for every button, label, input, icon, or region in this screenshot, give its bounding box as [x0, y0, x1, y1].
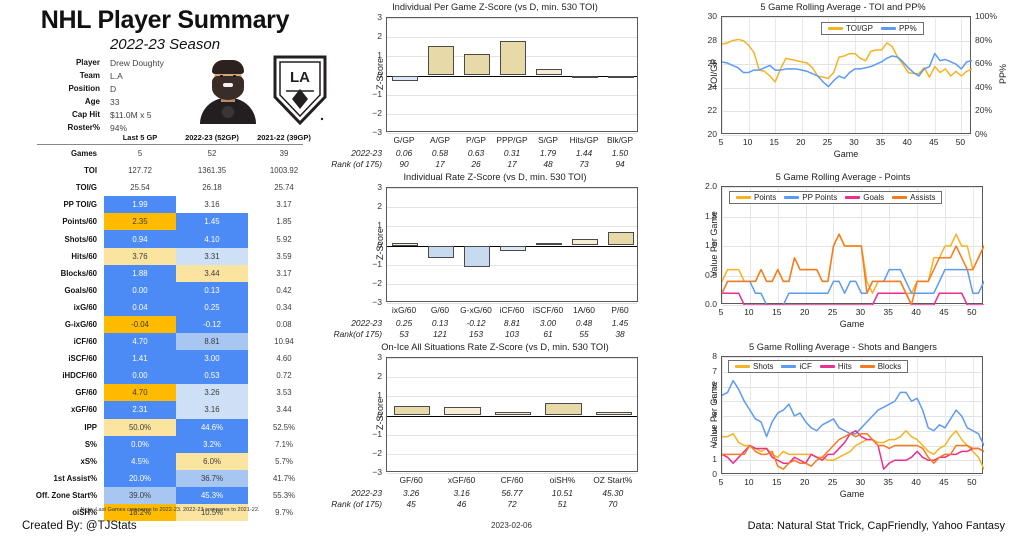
table-cell: 3.31 — [176, 248, 248, 265]
bar — [464, 54, 490, 75]
table-cell: 3.17 — [248, 265, 320, 282]
legend-item[interactable]: iCF — [781, 362, 811, 371]
row-label: S% — [20, 436, 104, 453]
season-value: 1.45 — [612, 318, 628, 328]
table-cell: 50.0% — [104, 419, 176, 436]
chart-rolling-toi-pp: 5 Game Rolling Average - TOI and PP%2022… — [663, 2, 1023, 177]
table-note: Note: Last Games compares to 2022-23. 20… — [20, 507, 320, 513]
gridline — [387, 226, 637, 227]
series-line-pp- — [722, 54, 972, 87]
bar — [572, 76, 598, 78]
y-axis-tick: 0.0 — [705, 299, 717, 309]
rank-value: 121 — [433, 329, 447, 339]
table-cell: 5.7% — [248, 453, 320, 470]
rank-value: 61 — [543, 329, 552, 339]
x-axis-tick: G/60 — [431, 305, 449, 315]
bar — [536, 243, 562, 245]
legend-item[interactable]: Blocks — [860, 362, 902, 371]
table-cell: 10.94 — [248, 333, 320, 350]
legend-item[interactable]: PP% — [881, 24, 917, 33]
table-cell: 3.44 — [176, 265, 248, 282]
legend-swatch — [892, 196, 907, 198]
rank-value: 73 — [579, 159, 588, 169]
x-axis-tick: 35 — [884, 307, 893, 317]
row-label: Goals/60 — [20, 282, 104, 299]
zero-line — [387, 76, 637, 77]
gridline — [387, 454, 637, 455]
x-axis-tick: 25 — [828, 307, 837, 317]
x-axis-tick: 15 — [770, 137, 779, 147]
table-row: xS%4.5%6.0%5.7% — [20, 453, 320, 470]
y-axis-label: Value Per Game — [709, 377, 719, 451]
bio-row: TeamL.A — [42, 69, 192, 82]
x-axis-tick: G-xG/60 — [460, 305, 492, 315]
y-axis-tick: 3 — [377, 182, 382, 192]
table-row: IPP50.0%44.6%52.5% — [20, 419, 320, 436]
bio-row: PositionD — [42, 82, 192, 95]
rank-value: 45 — [407, 499, 416, 509]
table-cell: 4.10 — [176, 230, 248, 247]
y-axis-tick: 30 — [707, 11, 717, 21]
gridline — [387, 95, 637, 96]
table-cell: 55.3% — [248, 487, 320, 504]
y-axis-tick: 20 — [707, 129, 717, 139]
row-label: ixG/60 — [20, 299, 104, 316]
x-axis-tick: A/GP — [430, 135, 450, 145]
table-row: xGF/602.313.163.44 — [20, 401, 320, 418]
x-axis-tick: 40 — [911, 477, 920, 487]
x-axis-tick: xGF/60 — [448, 475, 475, 485]
legend-swatch — [784, 196, 799, 198]
row-label: Games — [20, 145, 104, 162]
row-label-season: 2022-23 — [330, 488, 382, 498]
table-cell: -0.04 — [104, 316, 176, 333]
table-cell: 3.16 — [176, 196, 248, 213]
season-value: 0.31 — [504, 148, 520, 158]
season-value: 0.48 — [576, 318, 592, 328]
table-cell: 1.41 — [104, 350, 176, 367]
y-axis-tick: 2.0 — [705, 181, 717, 191]
legend-item[interactable]: Hits — [820, 362, 852, 371]
legend: ShotsiCFHitsBlocks — [728, 360, 908, 373]
bar — [428, 246, 454, 258]
x-axis-tick: 35 — [876, 137, 885, 147]
table-cell: 0.25 — [176, 299, 248, 316]
x-axis-tick: P/GP — [466, 135, 486, 145]
table-cell: -0.12 — [176, 316, 248, 333]
table-row: Points/602.351.451.85 — [20, 213, 320, 230]
gridline — [387, 114, 637, 115]
gridline — [387, 377, 637, 378]
legend-swatch — [881, 27, 896, 29]
plot-area — [386, 357, 638, 472]
plot-area — [721, 356, 983, 474]
legend-item[interactable]: TOI/GP — [828, 24, 873, 33]
table-cell: 20.0% — [104, 470, 176, 487]
table-cell: 0.34 — [248, 299, 320, 316]
rank-value: 48 — [543, 159, 552, 169]
table-cell: 3.44 — [248, 401, 320, 418]
table-cell: 45.3% — [176, 487, 248, 504]
row-label: Blocks/60 — [20, 265, 104, 282]
x-axis-tick: 10 — [744, 307, 753, 317]
series-layer — [722, 187, 984, 305]
bar — [608, 76, 634, 78]
x-axis-tick: 10 — [743, 137, 752, 147]
y-axis-label-right: PP% — [998, 54, 1008, 94]
bar — [495, 412, 531, 416]
table-row: iCF/604.708.8110.94 — [20, 333, 320, 350]
table-cell: 4.5% — [104, 453, 176, 470]
season-value: 3.00 — [540, 318, 556, 328]
table-cell: 5.92 — [248, 230, 320, 247]
rank-value: 26 — [471, 159, 480, 169]
bar — [500, 41, 526, 75]
legend: PointsPP PointsGoalsAssists — [729, 191, 942, 204]
svg-text:LA: LA — [290, 69, 310, 86]
x-axis-tick: 15 — [772, 307, 781, 317]
rank-value: 38 — [615, 329, 624, 339]
legend-swatch — [820, 365, 835, 367]
legend-label: Assists — [910, 193, 935, 202]
table-cell: 0.04 — [104, 299, 176, 316]
table-row: Blocks/601.883.443.17 — [20, 265, 320, 282]
row-label-rank: Rank(of 175) — [330, 329, 382, 339]
table-row: Shots/600.944.105.92 — [20, 230, 320, 247]
chart-title: Individual Rate Z-Score (vs D, min. 530 … — [330, 172, 660, 182]
x-axis-tick: 30 — [856, 307, 865, 317]
row-label: Shots/60 — [20, 230, 104, 247]
x-axis-tick: 45 — [939, 307, 948, 317]
y-axis-tick-right: 20% — [975, 105, 992, 115]
table-cell: 3.2% — [176, 436, 248, 453]
bar — [394, 406, 430, 416]
plot-area — [386, 187, 638, 302]
table-cell: 1.45 — [176, 213, 248, 230]
season-value: 45.30 — [602, 488, 623, 498]
row-label: Off. Zone Start% — [20, 487, 104, 504]
legend-item[interactable]: Shots — [735, 362, 773, 371]
legend-label: Points — [754, 193, 776, 202]
left-panel: NHL Player Summary 2022-23 Season Player… — [0, 0, 330, 539]
x-axis-tick: PPP/GP — [496, 135, 527, 145]
x-axis-tick: 50 — [956, 137, 965, 147]
player-summary-dashboard: NHL Player Summary 2022-23 Season Player… — [0, 0, 1023, 539]
x-axis-tick: 20 — [800, 477, 809, 487]
x-axis-tick: 40 — [902, 137, 911, 147]
x-axis-tick: oiSH% — [550, 475, 576, 485]
x-axis-tick: 10 — [744, 477, 753, 487]
bio-row: Age33 — [42, 95, 192, 108]
bar — [536, 69, 562, 76]
x-axis-tick: 1A/60 — [573, 305, 595, 315]
legend-label: iCF — [799, 362, 811, 371]
gridline — [387, 358, 637, 359]
x-axis-tick: Hits/GP — [570, 135, 599, 145]
y-axis-tick-right: 40% — [975, 82, 992, 92]
row-label-season: 2022-23 — [330, 318, 382, 328]
x-axis-tick: CF/60 — [501, 475, 524, 485]
x-axis-tick: 30 — [849, 137, 858, 147]
gridline — [387, 265, 637, 266]
rank-value: 90 — [399, 159, 408, 169]
legend-label: Goals — [863, 193, 884, 202]
table-cell: 3.26 — [176, 384, 248, 401]
legend-swatch — [735, 365, 750, 367]
table-cell: 0.72 — [248, 367, 320, 384]
bar — [608, 232, 634, 245]
season-value: 1.50 — [612, 148, 628, 158]
bar — [392, 243, 418, 246]
season-value: 8.81 — [504, 318, 520, 328]
table-cell: 26.18 — [176, 179, 248, 196]
season-value: 1.79 — [540, 148, 556, 158]
season-value: 0.06 — [396, 148, 412, 158]
legend-item[interactable]: PP Points — [784, 193, 837, 202]
legend-swatch — [828, 27, 843, 29]
bio-key: Age — [42, 97, 100, 106]
legend-label: Hits — [838, 362, 852, 371]
table-cell: 0.13 — [176, 282, 248, 299]
table-row: GF/604.703.263.53 — [20, 384, 320, 401]
gridline — [722, 475, 982, 476]
table-cell: 3.16 — [176, 401, 248, 418]
bar — [392, 76, 418, 82]
bar — [572, 239, 598, 246]
table-cell: 1361.35 — [176, 162, 248, 179]
y-axis-label: Z-Score — [375, 44, 385, 104]
table-cell: 52 — [176, 145, 248, 162]
bar — [444, 407, 480, 415]
y-axis-label: Z-Score — [375, 214, 385, 274]
la-kings-logo: LA — [272, 55, 328, 125]
table-cell: 4.70 — [104, 333, 176, 350]
gridline — [387, 188, 637, 189]
x-axis-tick: 40 — [911, 307, 920, 317]
rank-value: 103 — [505, 329, 519, 339]
table-cell: 39 — [248, 145, 320, 162]
table-row: 1st Assist%20.0%36.7%41.7% — [20, 470, 320, 487]
chart-individual-per-game-zscore: Individual Per Game Z-Score (vs D, min. … — [330, 2, 660, 177]
table-cell: 0.0% — [104, 436, 176, 453]
row-label: iHDCF/60 — [20, 367, 104, 384]
rank-value: 17 — [507, 159, 516, 169]
table-cell: 5 — [104, 145, 176, 162]
season-value: 3.26 — [403, 488, 419, 498]
bio-value: Drew Doughty — [100, 58, 164, 68]
season-value: 0.63 — [468, 148, 484, 158]
table-cell: 0.42 — [248, 282, 320, 299]
table-cell: 1003.92 — [248, 162, 320, 179]
table-row: G-ixG/60-0.04-0.120.08 — [20, 316, 320, 333]
row-label: Points/60 — [20, 213, 104, 230]
table-cell: 44.6% — [176, 419, 248, 436]
x-axis-tick: 45 — [939, 477, 948, 487]
bio-value: D — [100, 84, 116, 94]
row-label: iSCF/60 — [20, 350, 104, 367]
gridline — [722, 305, 982, 306]
x-axis-tick: S/GP — [538, 135, 558, 145]
bio-value: 33 — [100, 97, 119, 107]
y-axis-tick: 0 — [712, 469, 717, 479]
legend-item[interactable]: Goals — [845, 193, 884, 202]
rank-value: 72 — [507, 499, 516, 509]
rank-value: 55 — [579, 329, 588, 339]
table-row: iSCF/601.413.004.60 — [20, 350, 320, 367]
stat-table-header: Last 5 GP 2022-23 (52GP) 2021-22 (39GP) — [20, 130, 320, 143]
gridline — [387, 37, 637, 38]
page-subtitle: 2022-23 Season — [0, 36, 330, 53]
bar — [464, 246, 490, 267]
table-cell: 1.85 — [248, 213, 320, 230]
table-cell: 0.00 — [104, 367, 176, 384]
x-axis-label: Game — [721, 149, 971, 159]
x-axis-tick: 35 — [884, 477, 893, 487]
row-label: PP TOI/G — [20, 196, 104, 213]
row-label: Hits/60 — [20, 248, 104, 265]
row-label-rank: Rank (of 175) — [330, 499, 382, 509]
gridline — [387, 473, 637, 474]
table-row: Off. Zone Start%39.0%45.3%55.3% — [20, 487, 320, 504]
table-cell: 2.31 — [104, 401, 176, 418]
bio-value: L.A — [100, 71, 123, 81]
x-axis-tick: P/60 — [611, 305, 628, 315]
table-cell: 6.0% — [176, 453, 248, 470]
y-axis-tick-right: 60% — [975, 58, 992, 68]
x-axis-tick: 5 — [719, 307, 724, 317]
legend-item[interactable]: Assists — [892, 193, 935, 202]
plot-area — [386, 17, 638, 132]
row-label-season: 2022-23 — [330, 148, 382, 158]
season-value: 0.25 — [396, 318, 412, 328]
stat-table: Last 5 GP 2022-23 (52GP) 2021-22 (39GP) … — [20, 130, 320, 521]
y-axis-tick: 7 — [712, 366, 717, 376]
rank-value: 153 — [469, 329, 483, 339]
season-value: 56.77 — [502, 488, 523, 498]
x-axis-tick: ixG/60 — [392, 305, 416, 315]
row-label: G-ixG/60 — [20, 316, 104, 333]
table-row: iHDCF/600.000.530.72 — [20, 367, 320, 384]
table-cell: 3.00 — [176, 350, 248, 367]
source-label: Data: Natural Stat Trick, CapFriendly, Y… — [748, 520, 1005, 532]
table-cell: 3.17 — [248, 196, 320, 213]
table-cell: 0.08 — [248, 316, 320, 333]
bar — [545, 403, 581, 415]
table-cell: 3.59 — [248, 248, 320, 265]
chart-on-ice-all-situations-rate-zscore: On-Ice All Situations Rate Z-Score (vs D… — [330, 342, 660, 517]
series-line-pp-points — [722, 270, 984, 305]
table-cell: 4.60 — [248, 350, 320, 367]
x-axis-tick: 45 — [929, 137, 938, 147]
table-cell: 1.99 — [104, 196, 176, 213]
y-axis-tick-right: 0% — [975, 129, 987, 139]
gridline — [387, 18, 637, 19]
x-axis-tick: 25 — [828, 477, 837, 487]
x-axis-tick: 20 — [796, 137, 805, 147]
gridline — [387, 435, 637, 436]
table-cell: 39.0% — [104, 487, 176, 504]
legend-label: PP% — [899, 24, 917, 33]
table-cell: 0.94 — [104, 230, 176, 247]
x-axis-tick: 15 — [772, 477, 781, 487]
season-value: 0.58 — [432, 148, 448, 158]
y-axis-label: Z-Score — [375, 384, 385, 444]
y-axis-tick: 3 — [377, 12, 382, 22]
table-row: TOI/G25.5426.1825.74 — [20, 179, 320, 196]
x-axis-tick: 25 — [823, 137, 832, 147]
y-axis-tick: −3 — [372, 297, 382, 307]
x-axis-tick: 50 — [967, 477, 976, 487]
column-header-last5: Last 5 GP — [104, 133, 176, 142]
x-axis-tick: 50 — [967, 307, 976, 317]
row-label: xS% — [20, 453, 104, 470]
player-bio: PlayerDrew DoughtyTeamL.APositionDAge33C… — [42, 56, 192, 134]
x-axis-tick: 20 — [800, 307, 809, 317]
column-header-current: 2022-23 (52GP) — [176, 133, 248, 142]
chart-title: On-Ice All Situations Rate Z-Score (vs D… — [330, 342, 660, 352]
y-axis-tick: −2 — [372, 278, 382, 288]
x-axis-tick: 30 — [856, 477, 865, 487]
bio-key: Position — [42, 84, 100, 93]
y-axis-tick-right: 80% — [975, 35, 992, 45]
table-cell: 0.00 — [104, 282, 176, 299]
x-axis-tick: GF/60 — [400, 475, 423, 485]
table-cell: 3.53 — [248, 384, 320, 401]
page-title: NHL Player Summary — [0, 6, 330, 35]
legend-label: PP Points — [802, 193, 837, 202]
series-layer — [722, 357, 984, 475]
y-axis-tick: 2 — [377, 371, 382, 381]
season-value: -0.12 — [466, 318, 485, 328]
table-row: Goals/600.000.130.42 — [20, 282, 320, 299]
chart-individual-rate-zscore: Individual Rate Z-Score (vs D, min. 530 … — [330, 172, 660, 347]
bio-value: $11.0M x 5 — [100, 110, 151, 120]
row-label: TOI/G — [20, 179, 104, 196]
season-value: 3.16 — [453, 488, 469, 498]
table-row: Games55239 — [20, 145, 320, 162]
table-row: S%0.0%3.2%7.1% — [20, 436, 320, 453]
x-axis-tick: 5 — [719, 137, 724, 147]
chart-title: Individual Per Game Z-Score (vs D, min. … — [330, 2, 660, 12]
legend-swatch — [736, 196, 751, 198]
series-line-shots — [722, 431, 984, 469]
table-cell: 36.7% — [176, 470, 248, 487]
season-value: 1.44 — [576, 148, 592, 158]
chart-rolling-shots-bangers: 5 Game Rolling Average - Shots and Bange… — [663, 342, 1023, 517]
row-label: iCF/60 — [20, 333, 104, 350]
table-cell: 7.1% — [248, 436, 320, 453]
legend-label: TOI/GP — [846, 24, 873, 33]
y-axis-tick: 8 — [712, 351, 717, 361]
gridline — [722, 135, 970, 136]
bio-row: PlayerDrew Doughty — [42, 56, 192, 69]
table-row: Hits/603.763.313.59 — [20, 248, 320, 265]
bar — [500, 246, 526, 252]
table-cell: 25.74 — [248, 179, 320, 196]
legend-swatch — [781, 365, 796, 367]
table-cell: 2.35 — [104, 213, 176, 230]
series-line-points — [722, 234, 984, 293]
player-headshot — [197, 56, 259, 124]
y-axis-tick: 2 — [377, 201, 382, 211]
bio-key: Cap Hit — [42, 110, 100, 119]
table-cell: 8.81 — [176, 333, 248, 350]
zero-line — [387, 416, 637, 417]
rank-value: 51 — [558, 499, 567, 509]
x-axis-tick: Blk/GP — [607, 135, 633, 145]
row-label: GF/60 — [20, 384, 104, 401]
legend-item[interactable]: Points — [736, 193, 776, 202]
